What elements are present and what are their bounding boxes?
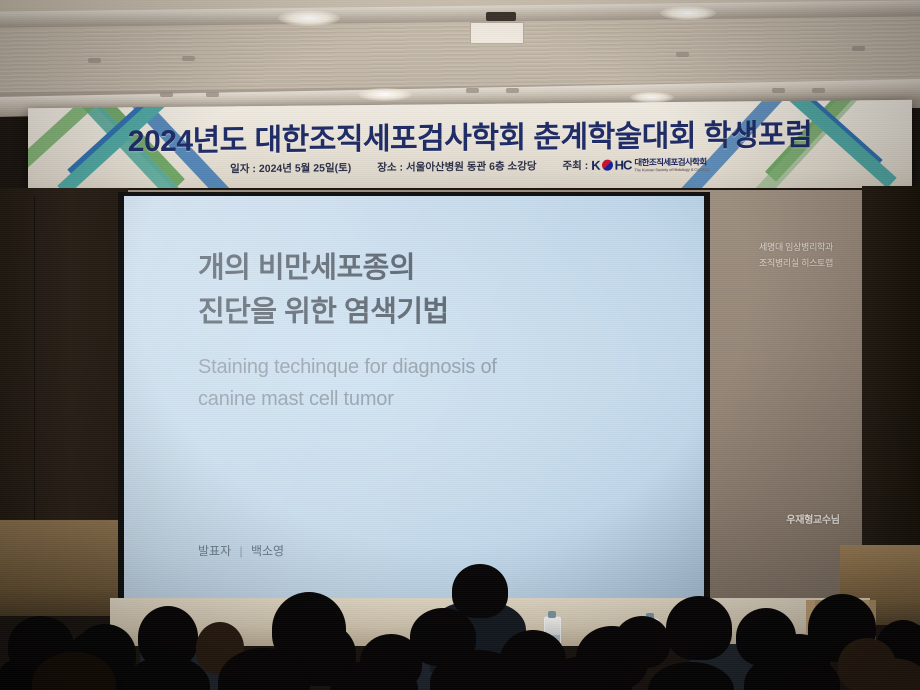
audience-head — [8, 616, 74, 676]
audience-head — [430, 650, 526, 690]
banner-date-label: 일자 : — [230, 161, 256, 176]
ceiling-light — [278, 10, 340, 26]
audience-shoulder — [0, 668, 130, 690]
ceiling-fixture — [812, 88, 825, 93]
audience-head — [876, 620, 920, 676]
seat — [140, 646, 220, 690]
projected-professor-text: 우재형교수님 — [758, 511, 868, 526]
projection-screen: 개의 비만세포종의 진단을 위한 염색기법 Staining techinque… — [124, 196, 704, 600]
right-wood-slats — [806, 600, 876, 656]
ceiling-fixture — [182, 56, 195, 61]
audience-head — [852, 658, 920, 690]
bottle-label — [545, 635, 560, 648]
ceiling-fixture — [772, 88, 785, 93]
banner-venue: 장소 : 서울아산병원 동관 6층 소강당 — [377, 158, 536, 175]
department-line-2: 조직병리실 히스토랩 — [736, 256, 856, 272]
banner-venue-label: 장소 : — [377, 159, 403, 174]
ceiling-fixture — [506, 88, 519, 93]
audience-head — [124, 656, 210, 690]
lecture-hall-photo: 2024년도 대한조직세포검사학회 춘계학술대회 학생포럼 일자 : 2024년… — [0, 0, 920, 690]
audience-head — [648, 662, 734, 690]
audience-head — [744, 652, 840, 690]
event-banner: 2024년도 대한조직세포검사학회 춘계학술대회 학생포럼 일자 : 2024년… — [28, 100, 912, 200]
audience-head — [330, 660, 418, 690]
seat — [690, 644, 776, 690]
taegeuk-icon — [602, 159, 613, 170]
ceiling-fixture — [852, 46, 865, 51]
banner-date-value: 2024년 5월 25일(토) — [259, 160, 351, 176]
ceiling-light — [660, 6, 716, 20]
ceiling-fixture — [88, 58, 101, 63]
kshc-name-korean: 대한조직세포검사학회 — [634, 157, 706, 168]
audience-shoulder — [0, 652, 126, 690]
department-line-1: 세명대 임상병리학과 — [736, 240, 856, 256]
banner-host: 주최 : K HC 대한조직세포검사학회 The Korean Society … — [563, 156, 710, 173]
seat — [380, 644, 466, 690]
bottle-label — [643, 637, 658, 650]
ceiling-fixture — [206, 92, 219, 97]
ceiling — [0, 0, 920, 108]
kshc-letter-k: K — [591, 157, 599, 172]
ceiling-projector-mount — [486, 12, 516, 21]
kshc-letters-hc: HC — [615, 157, 632, 172]
front-table-wall — [110, 598, 870, 646]
audience-head — [218, 648, 310, 690]
ceiling-fixture — [466, 88, 479, 93]
banner-host-label: 주최 : — [563, 157, 589, 172]
kshc-logo: K HC — [591, 157, 631, 172]
banner-date: 일자 : 2024년 5월 25일(토) — [230, 160, 351, 176]
ceiling-fixture — [676, 52, 689, 57]
audience-head — [32, 652, 116, 690]
water-bottle — [642, 618, 659, 666]
ceiling-light — [358, 88, 412, 101]
ceiling-vent — [470, 22, 524, 44]
banner-venue-value: 서울아산병원 동관 6층 소강당 — [406, 158, 537, 174]
kshc-name-block: 대한조직세포검사학회 The Korean Society of Histolo… — [634, 156, 709, 173]
ceiling-fixture — [160, 92, 173, 97]
banner-title: 2024년도 대한조직세포검사학회 춘계학술대회 학생포럼 — [28, 109, 912, 161]
kshc-name-english: The Korean Society of Histology & Cytolo… — [634, 168, 709, 173]
projected-department-text: 세명대 임상병리학과 조직병리실 히스토랩 — [736, 240, 856, 272]
water-bottle — [544, 616, 561, 664]
screen-vignette — [124, 196, 704, 600]
